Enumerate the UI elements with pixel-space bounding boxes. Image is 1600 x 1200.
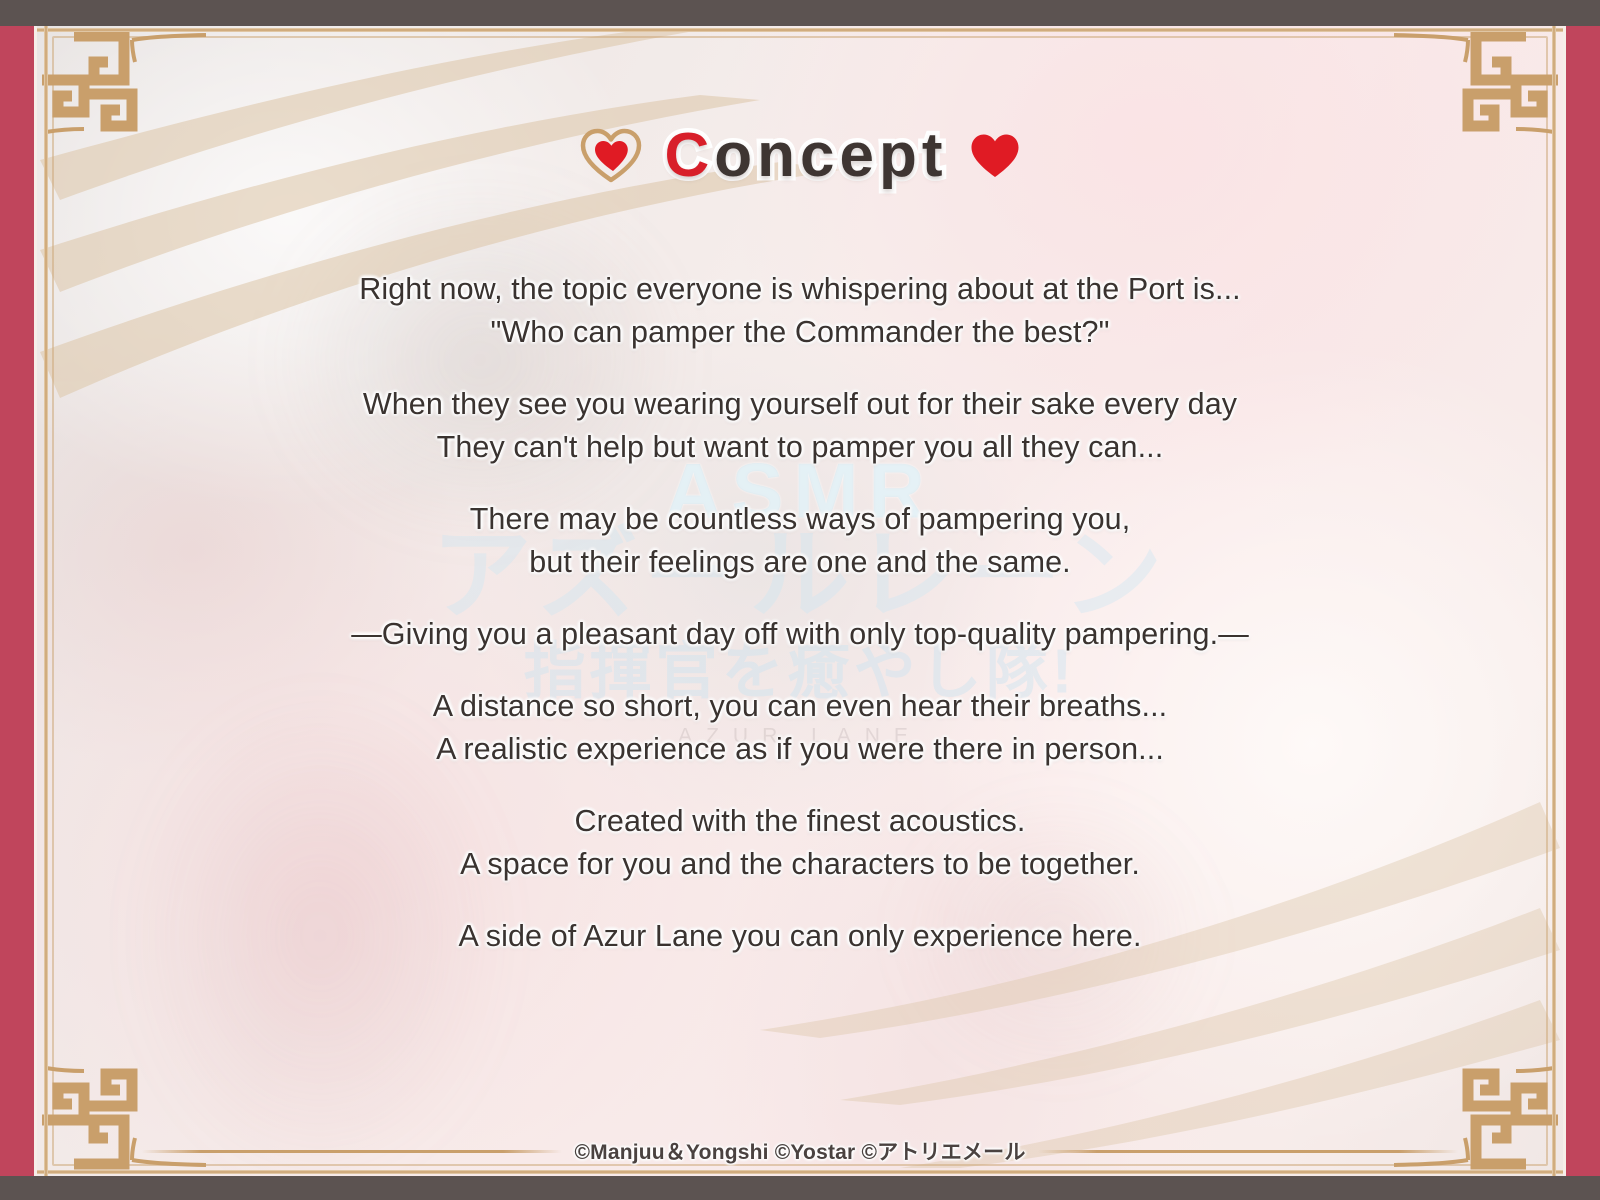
corner-ornament-bottom-right: [1394, 1028, 1572, 1178]
concept-body-text: Right now, the topic everyone is whisper…: [0, 268, 1600, 958]
heart-outline-icon: [580, 128, 642, 184]
frame-gold-line-left: [44, 0, 48, 1200]
frame-gold-line-right: [1552, 0, 1556, 1200]
page-title: Concept: [664, 120, 947, 191]
paragraph: There may be countless ways of pampering…: [0, 498, 1600, 584]
concept-page: ASMR アズールレーン 指揮官を癒やし隊! AZUR LANE Concept…: [0, 0, 1600, 1200]
text-line: but their feelings are one and the same.: [0, 541, 1600, 584]
text-line: A space for you and the characters to be…: [0, 843, 1600, 886]
text-line: —Giving you a pleasant day off with only…: [0, 613, 1600, 656]
paragraph: —Giving you a pleasant day off with only…: [0, 613, 1600, 656]
paragraph: Right now, the topic everyone is whisper…: [0, 268, 1600, 354]
corner-ornament-top-left: [28, 22, 206, 172]
text-line: Created with the finest acoustics.: [0, 800, 1600, 843]
corner-ornament-top-right: [1394, 22, 1572, 172]
edge-band-bottom: [0, 1176, 1600, 1200]
text-line: When they see you wearing yourself out f…: [0, 383, 1600, 426]
heart-solid-icon: [970, 133, 1020, 179]
frame-gold-line-bottom: [0, 1170, 1600, 1174]
text-line: They can't help but want to pamper you a…: [0, 426, 1600, 469]
text-line: A realistic experience as if you were th…: [0, 728, 1600, 771]
edge-band-left: [0, 0, 34, 1200]
frame-light-rule-right: [1563, 0, 1566, 1200]
text-line: A distance so short, you can even hear t…: [0, 685, 1600, 728]
page-title-first-letter: C: [664, 121, 714, 190]
frame-light-rule-left: [34, 0, 37, 1200]
paragraph: A side of Azur Lane you can only experie…: [0, 915, 1600, 958]
copyright-text: ©Manjuu＆Yongshi ©Yostar ©アトリエメール: [562, 1136, 1037, 1166]
page-title-row: Concept: [0, 120, 1600, 191]
edge-band-right: [1566, 0, 1600, 1200]
text-line: A side of Azur Lane you can only experie…: [0, 915, 1600, 958]
edge-band-top: [0, 0, 1600, 26]
copyright-row: ©Manjuu＆Yongshi ©Yostar ©アトリエメール: [0, 1136, 1600, 1166]
page-title-rest: oncept: [714, 121, 947, 190]
text-line: Right now, the topic everyone is whisper…: [0, 268, 1600, 311]
paragraph: A distance so short, you can even hear t…: [0, 685, 1600, 771]
text-line: There may be countless ways of pampering…: [0, 498, 1600, 541]
paragraph: When they see you wearing yourself out f…: [0, 383, 1600, 469]
paragraph: Created with the finest acoustics. A spa…: [0, 800, 1600, 886]
text-line: "Who can pamper the Commander the best?": [0, 311, 1600, 354]
corner-ornament-bottom-left: [28, 1028, 206, 1178]
frame-gold-line-top: [0, 28, 1600, 32]
